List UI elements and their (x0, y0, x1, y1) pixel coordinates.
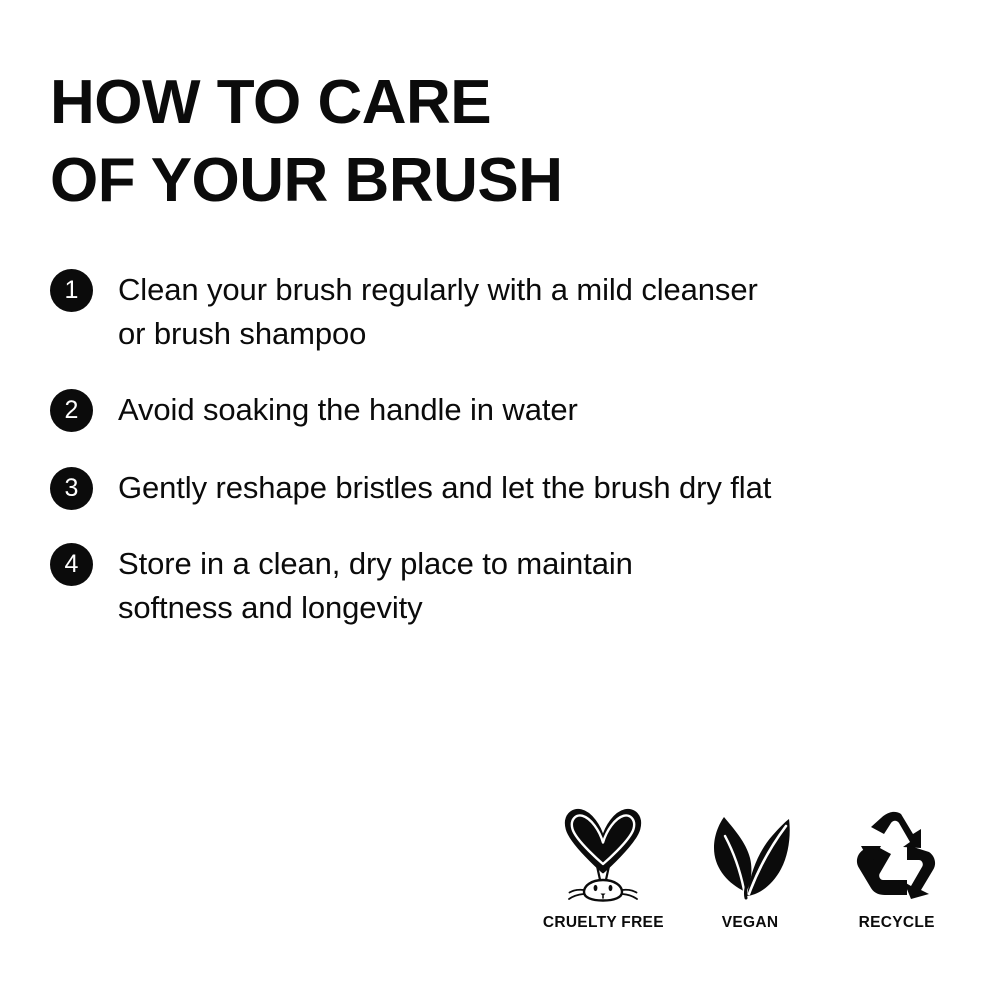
certification-badge-row: CRUELTY FREE VEGAN (530, 806, 970, 932)
step-text-4-line-1: Store in a clean, dry place to maintain (118, 542, 950, 586)
step-number-badge-1: 1 (50, 269, 93, 312)
step-text-2-line-1: Avoid soaking the handle in water (118, 388, 950, 432)
two-leaves-icon (706, 806, 794, 902)
list-item: 3 Gently reshape bristles and let the br… (50, 466, 950, 510)
badge-label-vegan: VEGAN (722, 914, 779, 932)
step-text-4-line-2: softness and longevity (118, 586, 950, 630)
step-number-badge-2: 2 (50, 389, 93, 432)
page-title-line-1: HOW TO CARE (50, 64, 950, 142)
page-title: HOW TO CARE OF YOUR BRUSH (50, 64, 950, 220)
page-title-line-2: OF YOUR BRUSH (50, 142, 950, 220)
step-number-badge-4: 4 (50, 543, 93, 586)
badge-vegan: VEGAN (677, 806, 824, 932)
list-item: 1 Clean your brush regularly with a mild… (50, 268, 950, 356)
recycle-mobius-icon (851, 806, 943, 902)
badge-label-recycle: RECYCLE (859, 914, 935, 932)
badge-recycle: RECYCLE (823, 806, 970, 932)
list-item: 2 Avoid soaking the handle in water (50, 388, 950, 432)
badge-cruelty-free: CRUELTY FREE (530, 806, 677, 932)
step-text-1: Clean your brush regularly with a mild c… (118, 268, 950, 356)
step-number-badge-3: 3 (50, 467, 93, 510)
bunny-heart-ears-icon (557, 806, 649, 902)
step-text-2: Avoid soaking the handle in water (118, 388, 950, 432)
step-text-1-line-2: or brush shampoo (118, 312, 950, 356)
step-text-4: Store in a clean, dry place to maintain … (118, 542, 950, 630)
care-steps-list: 1 Clean your brush regularly with a mild… (50, 268, 950, 630)
step-text-3: Gently reshape bristles and let the brus… (118, 466, 950, 510)
badge-label-cruelty-free: CRUELTY FREE (543, 914, 664, 932)
step-text-3-line-1: Gently reshape bristles and let the brus… (118, 466, 950, 510)
brush-care-infographic: HOW TO CARE OF YOUR BRUSH 1 Clean your b… (0, 0, 1000, 1000)
list-item: 4 Store in a clean, dry place to maintai… (50, 542, 950, 630)
step-text-1-line-1: Clean your brush regularly with a mild c… (118, 268, 950, 312)
